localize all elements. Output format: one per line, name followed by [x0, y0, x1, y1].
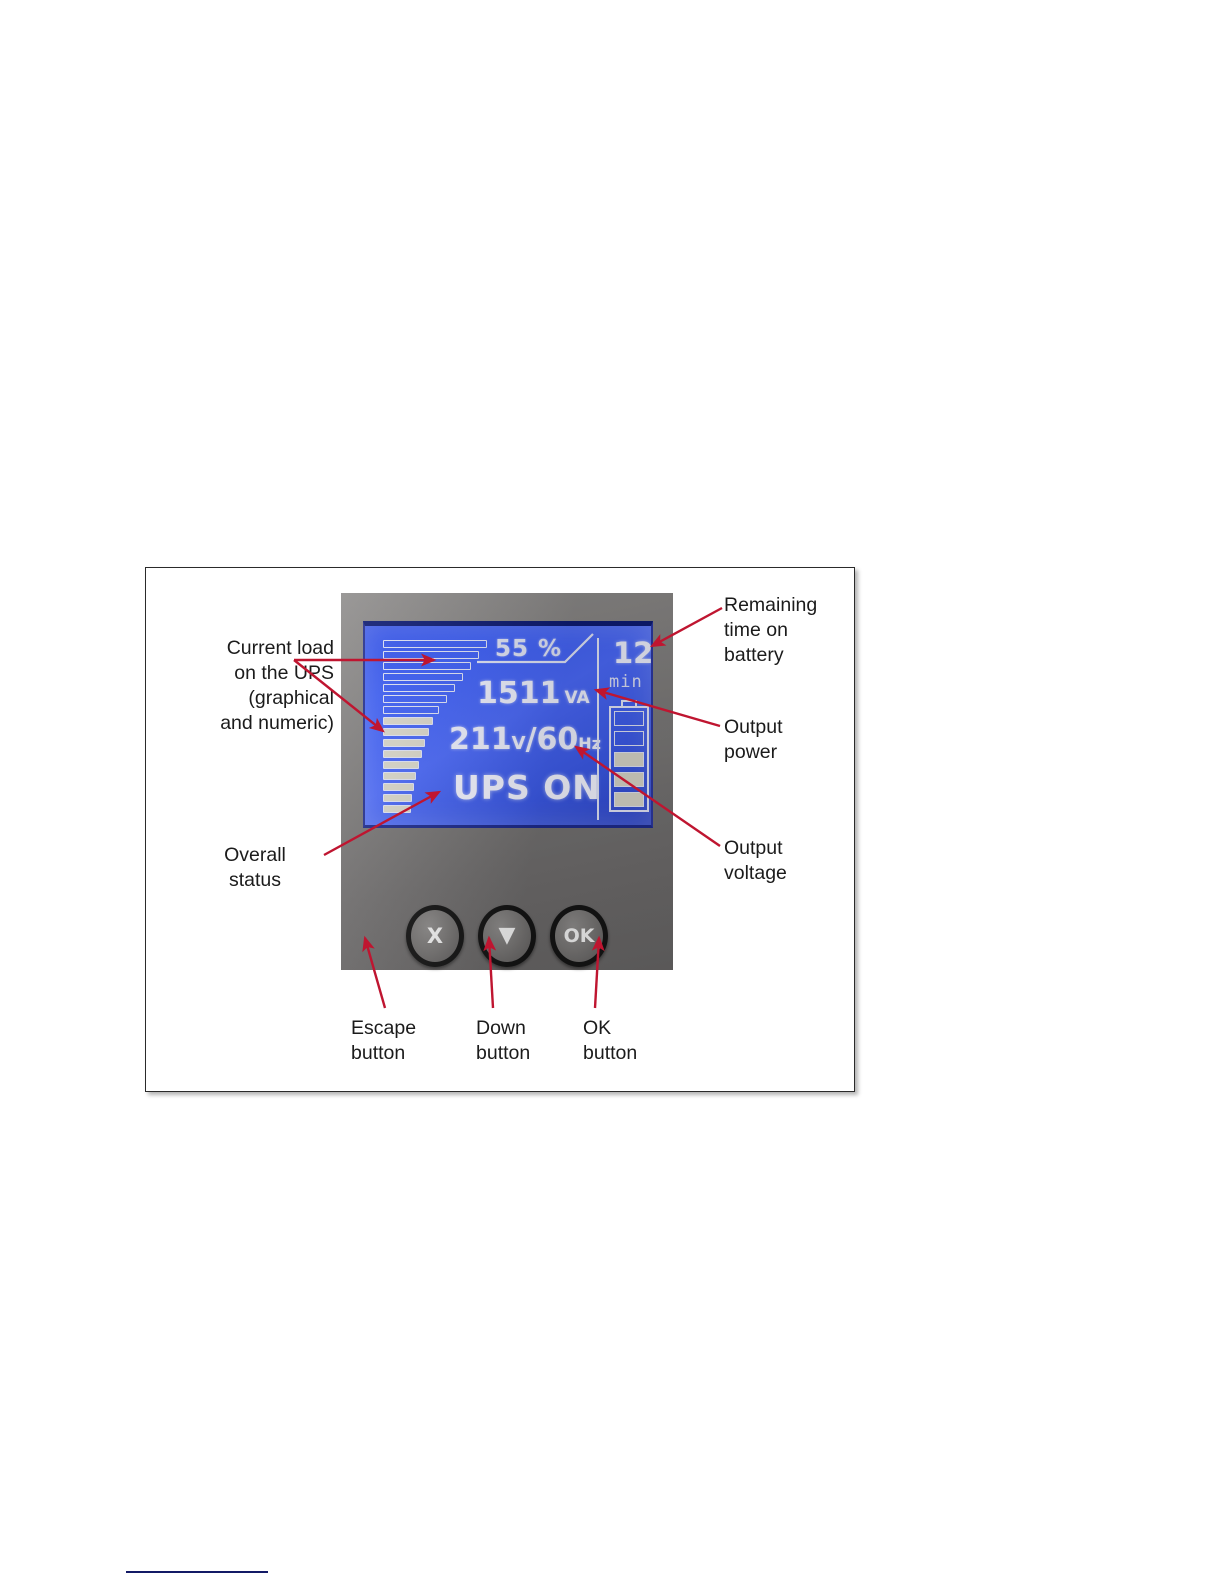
figure-frame: 55 % 1511VA 211V/60Hz UPS ON 12 min [145, 567, 855, 1092]
footnote-separator [126, 1571, 268, 1573]
lcd-vertical-divider [597, 638, 599, 820]
chevron-down-icon: ▼ [499, 925, 516, 947]
output-power-unit: VA [565, 688, 590, 708]
ok-button[interactable]: OK [550, 905, 608, 967]
load-percent-value: 55 % [495, 636, 562, 662]
callout-current-load: Current load on the UPS (graphical and n… [156, 636, 334, 736]
callout-output-voltage: Output voltage [724, 836, 852, 886]
battery-runtime-value: 12 [613, 636, 653, 670]
battery-segment [614, 711, 644, 726]
ups-lcd-screen: 55 % 1511VA 211V/60Hz UPS ON 12 min [363, 621, 653, 828]
callout-ok-button: OK button [583, 1016, 693, 1066]
close-icon: X [427, 926, 443, 947]
output-voltage-readout: 211V/60Hz [449, 722, 601, 757]
ok-label: OK [564, 927, 595, 946]
battery-runtime-unit: min [609, 672, 643, 692]
output-voltage-unit: V [512, 733, 526, 754]
down-button[interactable]: ▼ [478, 905, 536, 967]
callout-escape-button: Escape button [351, 1016, 461, 1066]
battery-segment [614, 792, 644, 807]
callout-overall-status: Overall status [176, 843, 334, 893]
callout-down-button: Down button [476, 1016, 586, 1066]
ups-front-panel: 55 % 1511VA 211V/60Hz UPS ON 12 min [341, 593, 673, 970]
battery-segment [614, 772, 644, 787]
voltage-separator: / [526, 722, 537, 757]
output-voltage-value: 211 [449, 722, 512, 757]
battery-segment [614, 752, 644, 767]
callout-output-power: Output power [724, 715, 852, 765]
battery-icon [609, 700, 649, 812]
escape-button[interactable]: X [406, 905, 464, 967]
callout-remaining-time: Remaining time on battery [724, 593, 852, 668]
output-frequency-value: 60 [537, 722, 579, 757]
battery-body [609, 706, 649, 812]
ups-status-readout: UPS ON [453, 768, 601, 807]
output-power-value: 1511 [477, 676, 561, 711]
battery-segment [614, 731, 644, 746]
output-power-readout: 1511VA [477, 676, 590, 711]
